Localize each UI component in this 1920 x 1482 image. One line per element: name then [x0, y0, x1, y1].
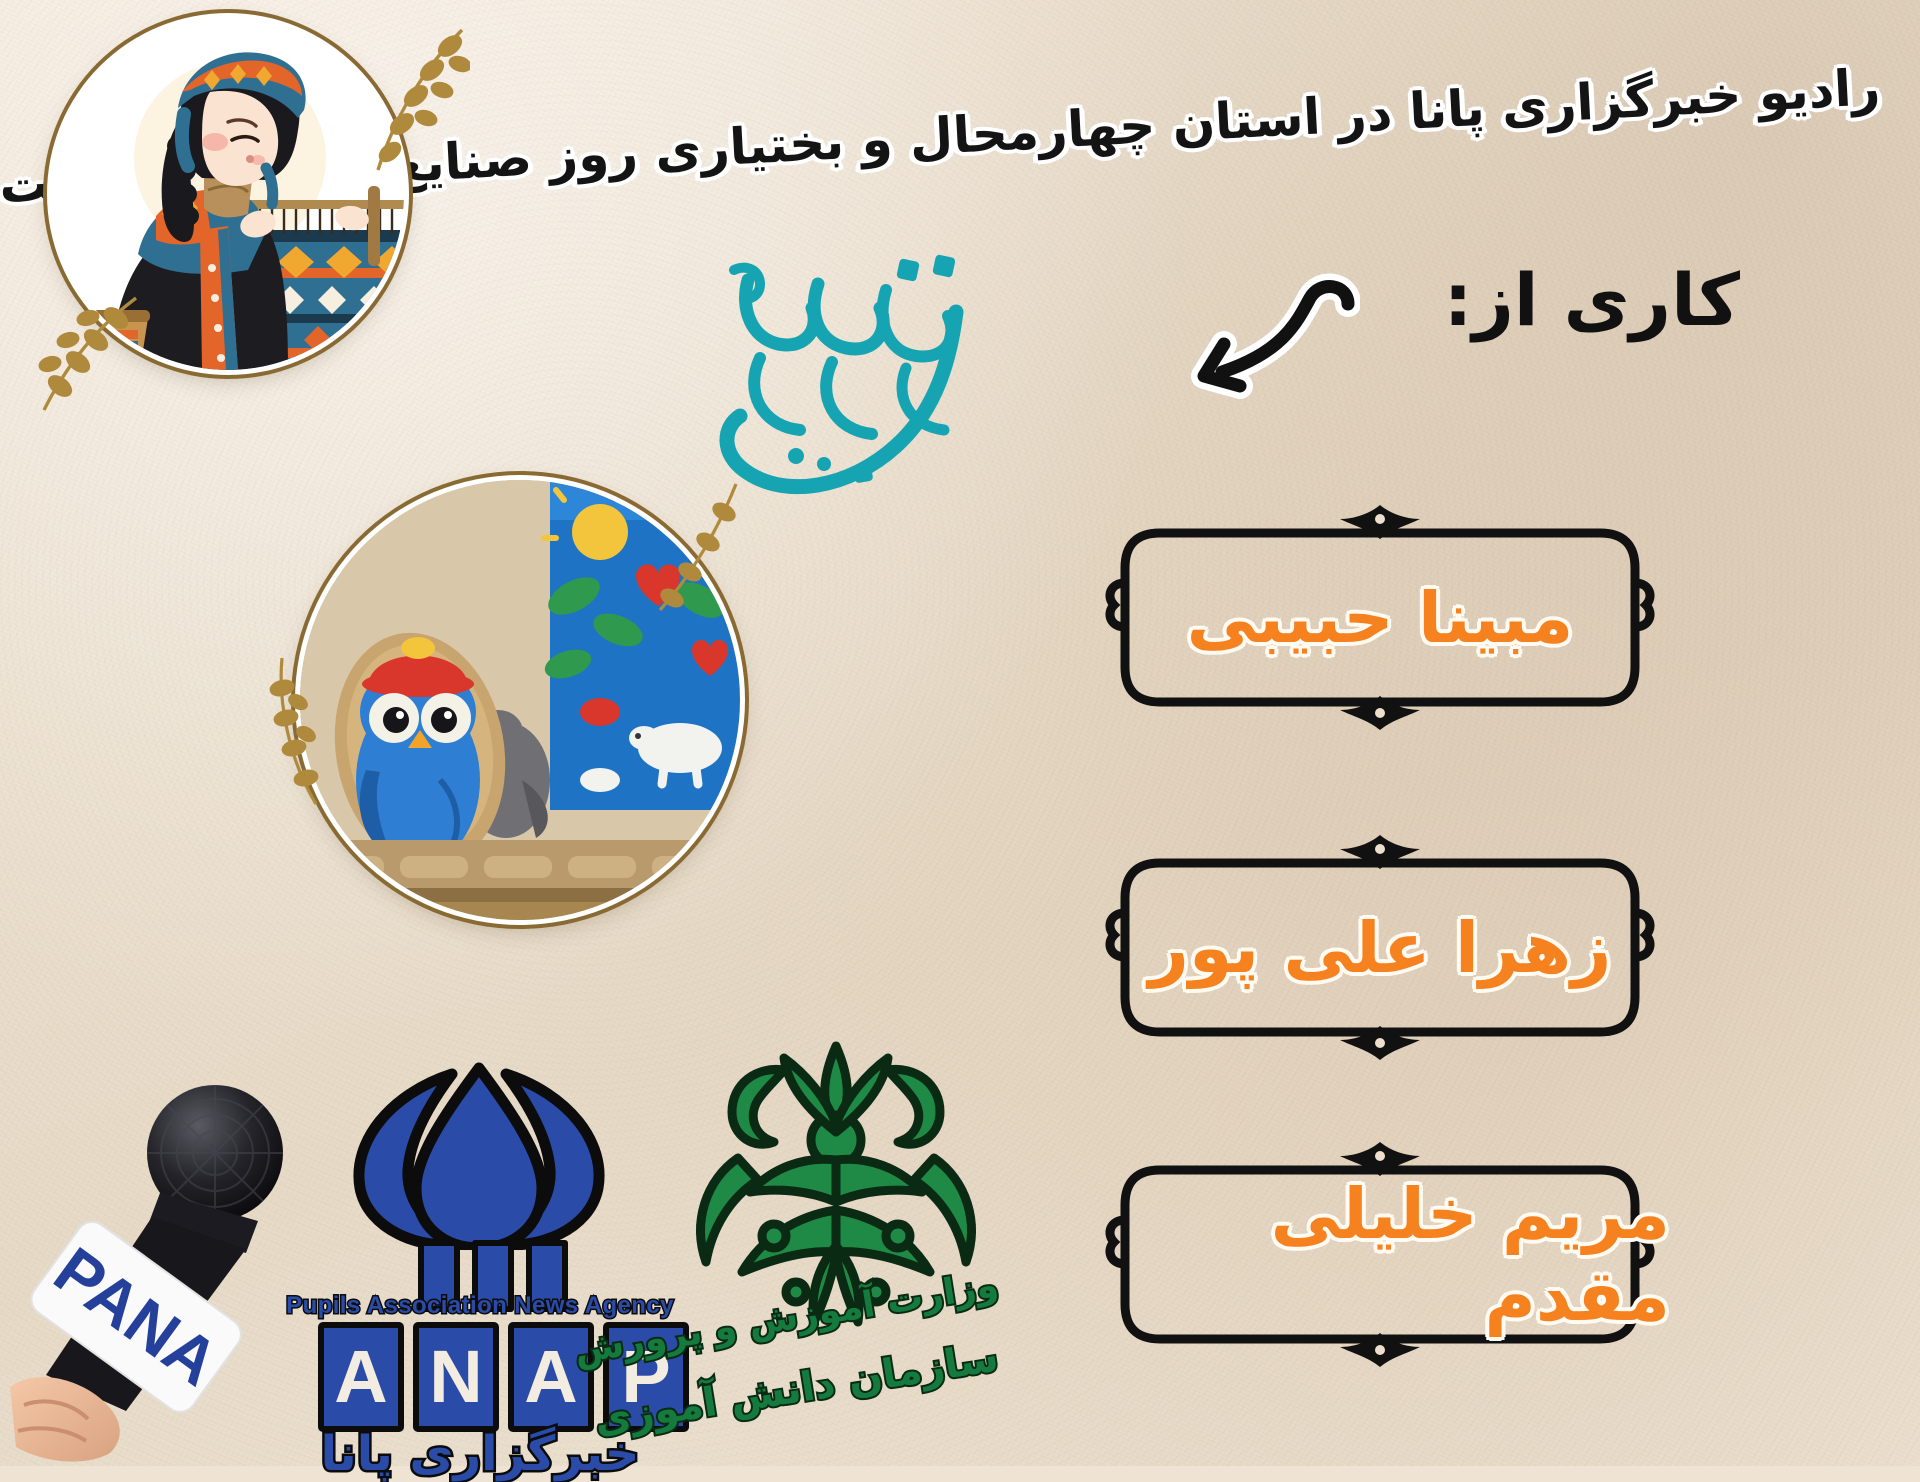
pana-tagline-en: Pupils Association News Agency — [286, 1292, 674, 1320]
weaver-illustration — [52, 18, 404, 370]
page-title: رادیو خبرگزاری پانا در استان چهارمحال و … — [350, 56, 1881, 198]
credit-label: کاری از: — [1444, 258, 1740, 342]
ministry-logo: وزارت آموزش و پرورش سازمان دانش آموزی — [670, 1040, 1000, 1460]
credit-name-3: مریم خلیلی مقدم — [1090, 1142, 1670, 1367]
pana-letter-4: A — [318, 1322, 404, 1432]
handicraft-calligraphy — [700, 250, 1000, 540]
credit-name-2: زهرا علی پور — [1090, 835, 1670, 1060]
pana-letter-3: N — [413, 1322, 499, 1432]
credit-plate-3: مریم خلیلی مقدم — [1090, 1142, 1670, 1367]
credit-plate-2: زهرا علی پور — [1090, 835, 1670, 1060]
credit-plate-1: مبینا حبیبی — [1090, 505, 1670, 730]
handicraft-photo — [300, 480, 740, 920]
credit-name-1: مبینا حبیبی — [1090, 505, 1670, 730]
pana-flame-icon — [334, 1060, 624, 1250]
microphone-image: PANA — [10, 1075, 320, 1465]
weaver-photo — [52, 18, 404, 370]
poster-canvas: رادیو خبرگزاری پانا در استان چهارمحال و … — [0, 0, 1920, 1466]
curved-arrow-icon — [1170, 268, 1360, 403]
handicraft-illustration — [300, 480, 740, 920]
